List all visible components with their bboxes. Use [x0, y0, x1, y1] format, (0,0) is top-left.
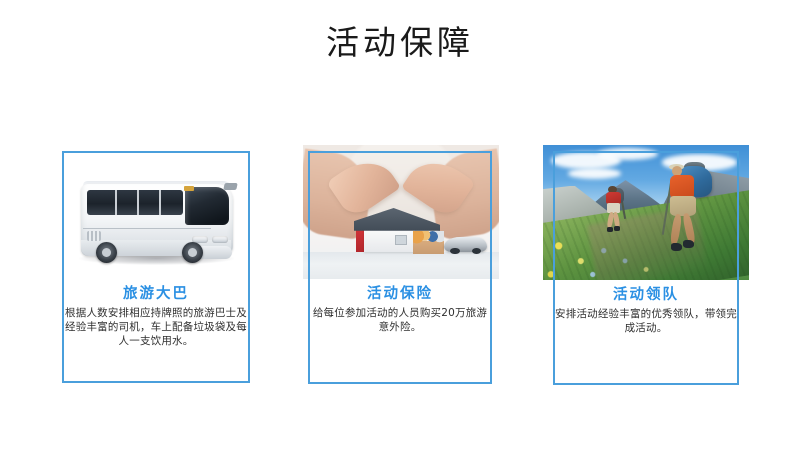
family-figurines	[413, 231, 444, 254]
card-heading: 活动领队	[553, 286, 739, 304]
house-wall	[364, 228, 415, 252]
card-body-text: 根据人数安排相应持牌照的旅游巴士及经验丰富的司机，车上配备垃圾袋及每人一支饮用水…	[64, 306, 248, 348]
page-title: 活动保障	[0, 22, 800, 64]
hiker-shorts	[670, 196, 697, 217]
tour-bus-photo	[65, 154, 247, 280]
toy-car	[444, 237, 487, 252]
hikers-on-mountain-photo	[543, 145, 749, 280]
card-heading: 旅游大巴	[64, 285, 248, 303]
bus-window-pillar	[115, 190, 117, 215]
card-body-text: 给每位参加活动的人员购买20万旅游意外险。	[309, 306, 491, 334]
bus-windshield	[185, 187, 229, 225]
card-body-text: 安排活动经验丰富的优秀领队，带领完成活动。	[553, 307, 739, 335]
feature-card-tour-bus[interactable]: 旅游大巴 根据人数安排相应持牌照的旅游巴士及经验丰富的司机，车上配备垃圾袋及每人…	[62, 151, 250, 383]
bus-headlight	[212, 236, 228, 243]
table-surface	[303, 252, 499, 279]
card-text-block: 旅游大巴 根据人数安排相应持牌照的旅游巴士及经验丰富的司机，车上配备垃圾袋及每人…	[64, 285, 248, 348]
bus-mirror-icon	[223, 183, 237, 190]
hiker-boot	[683, 240, 694, 248]
card-text-block: 活动领队 安排活动经验丰富的优秀领队，带领完成活动。	[553, 286, 739, 335]
bus-window-pillar	[159, 190, 161, 215]
cloud	[597, 148, 659, 160]
bus-illustration	[65, 154, 247, 280]
bus-engine-vent	[87, 231, 101, 241]
hiking-illustration	[543, 145, 749, 280]
near-hiker	[656, 164, 726, 267]
bus-side-windows	[87, 190, 183, 215]
hiker-torso	[670, 175, 694, 198]
hiker-boot	[614, 226, 620, 230]
far-hiker	[599, 186, 632, 235]
card-text-block: 活动保险 给每位参加活动的人员购买20万旅游意外险。	[309, 285, 491, 334]
house-window	[395, 235, 407, 245]
hiker-leg	[613, 211, 621, 227]
slide-canvas: 活动保障	[0, 0, 800, 450]
bus-window-pillar	[137, 190, 139, 215]
hiker-boot	[671, 243, 682, 251]
feature-card-activity-leader[interactable]: 活动领队 安排活动经验丰富的优秀领队，带领完成活动。	[543, 145, 749, 386]
bus-rear-wheel	[96, 242, 117, 263]
bus-body-crease	[83, 228, 211, 229]
bus-destination-sign	[184, 186, 194, 191]
cloud	[568, 168, 622, 179]
hiker-boot	[607, 227, 613, 231]
card-heading: 活动保险	[309, 285, 491, 303]
bus-front-wheel	[182, 242, 203, 263]
insurance-illustration	[303, 145, 499, 279]
hiker-leg	[669, 214, 682, 246]
feature-card-activity-insurance[interactable]: 活动保险 给每位参加活动的人员购买20万旅游意外险。	[303, 145, 499, 385]
hands-protecting-house-photo	[303, 145, 499, 279]
